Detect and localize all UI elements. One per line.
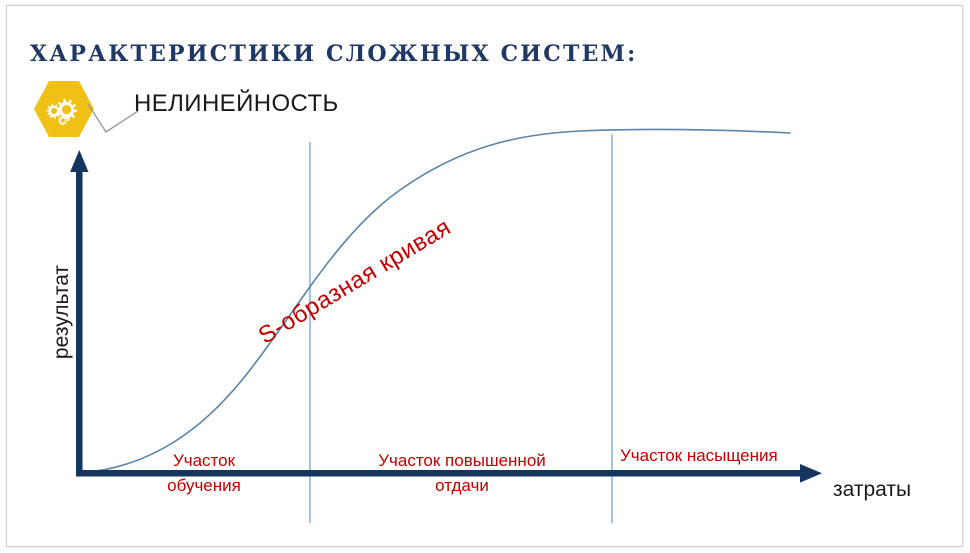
zone-label-high-return: Участок повышенной отдачи <box>322 448 602 498</box>
y-axis-label: результат <box>50 232 74 392</box>
x-axis-label: затраты <box>833 478 911 502</box>
zone-label-learning: Участок обучения <box>104 448 304 498</box>
slide-canvas: ХАРАКТЕРИСТИКИ СЛОЖНЫХ СИСТЕМ: <box>0 0 970 553</box>
zone-label-saturation: Участок насыщения <box>612 443 852 468</box>
s-curve-path <box>79 130 790 473</box>
